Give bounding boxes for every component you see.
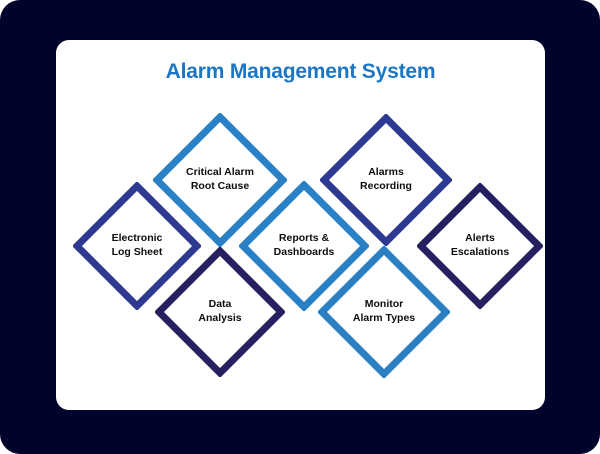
white-card: Alarm Management System Electronic Log S… [56, 40, 545, 410]
diamond-alerts-escalations[interactable]: Alerts Escalations [417, 183, 543, 309]
diamond-cluster: Electronic Log SheetCritical Alarm Root … [56, 40, 545, 410]
diagram-screenshot: Alarm Management System Electronic Log S… [0, 0, 600, 454]
diamond-outline-alerts-escalations [417, 183, 543, 309]
